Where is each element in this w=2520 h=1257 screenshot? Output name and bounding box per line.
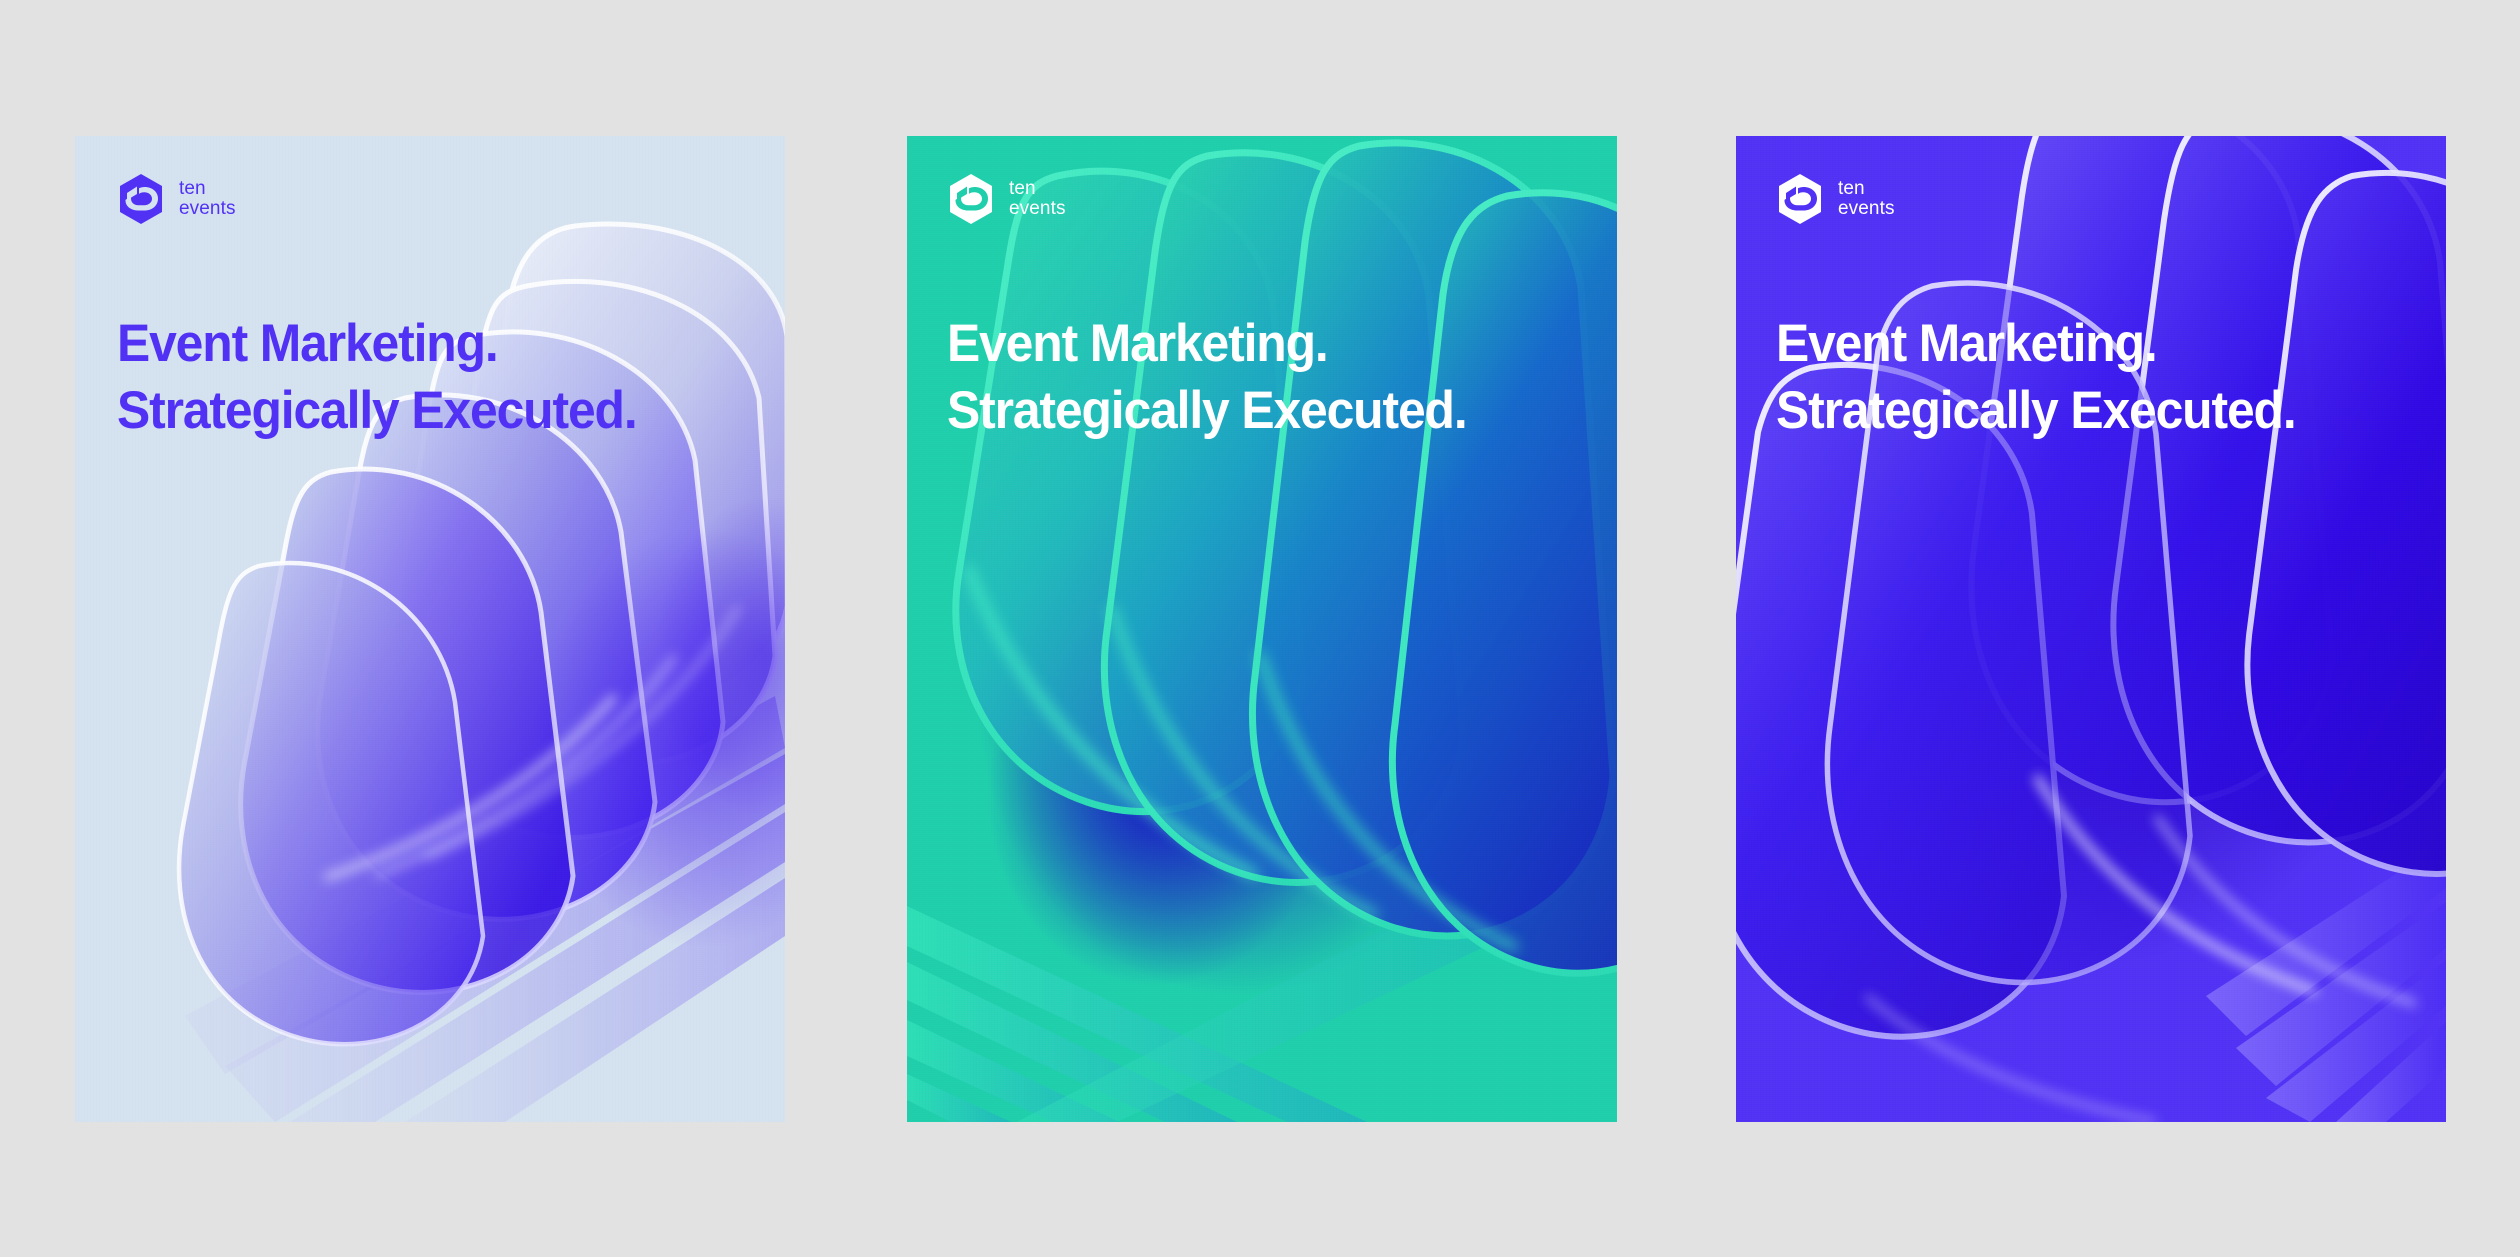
brand-wordmark: ten events [1009, 179, 1066, 218]
brand-wordmark-line-2: events [1009, 199, 1066, 219]
hexagon-ten-logo-icon [1776, 173, 1824, 225]
hexagon-ten-logo-icon [947, 173, 995, 225]
poster-green[interactable]: ten events Event Marketing. Strategicall… [907, 136, 1617, 1122]
poster-content: ten events Event Marketing. Strategicall… [907, 136, 1617, 1122]
headline-line-2: Strategically Executed. [117, 378, 637, 445]
brand-logo-lockup[interactable]: ten events [947, 173, 1066, 225]
brand-logo-lockup[interactable]: ten events [1776, 173, 1895, 225]
brand-wordmark-line-2: events [179, 199, 236, 219]
poster-content: ten events Event Marketing. Strategicall… [75, 136, 785, 1122]
poster-headline: Event Marketing. Strategically Executed. [1776, 311, 2296, 445]
brand-wordmark: ten events [179, 179, 236, 218]
headline-line-2: Strategically Executed. [947, 378, 1467, 445]
headline-line-2: Strategically Executed. [1776, 378, 2296, 445]
poster-content: ten events Event Marketing. Strategicall… [1736, 136, 2446, 1122]
brand-wordmark-line-1: ten [1838, 179, 1895, 199]
brand-logo-lockup[interactable]: ten events [117, 173, 236, 225]
poster-set-canvas: ten events Event Marketing. Strategicall… [0, 0, 2520, 1257]
brand-wordmark-line-1: ten [1009, 179, 1066, 199]
headline-line-1: Event Marketing. [117, 311, 637, 378]
brand-wordmark-line-1: ten [179, 179, 236, 199]
hexagon-ten-logo-icon [117, 173, 165, 225]
poster-purple[interactable]: ten events Event Marketing. Strategicall… [1736, 136, 2446, 1122]
poster-light-blue[interactable]: ten events Event Marketing. Strategicall… [75, 136, 785, 1122]
headline-line-1: Event Marketing. [947, 311, 1467, 378]
poster-headline: Event Marketing. Strategically Executed. [947, 311, 1467, 445]
poster-headline: Event Marketing. Strategically Executed. [117, 311, 637, 445]
brand-wordmark: ten events [1838, 179, 1895, 218]
brand-wordmark-line-2: events [1838, 199, 1895, 219]
headline-line-1: Event Marketing. [1776, 311, 2296, 378]
